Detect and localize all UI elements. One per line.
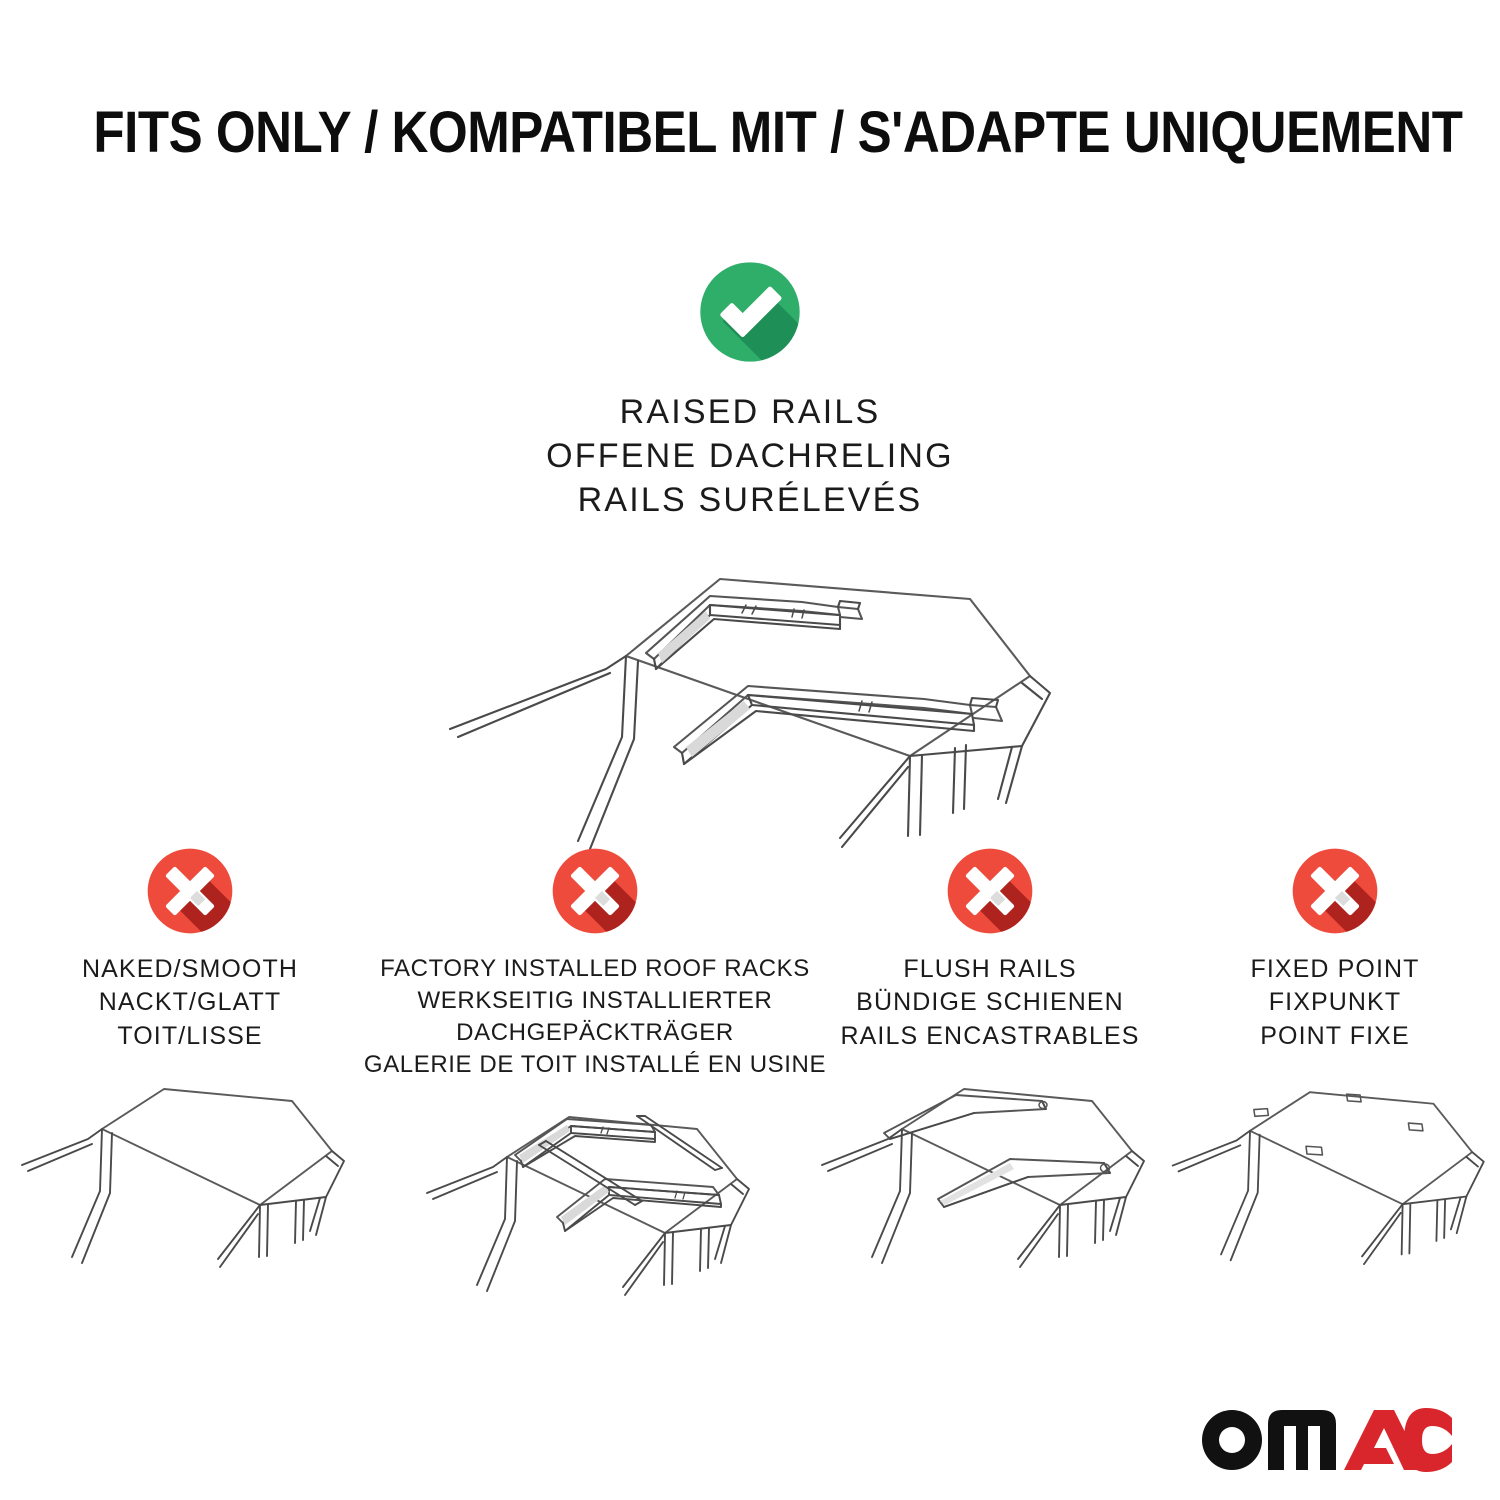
incompatible-label-en: FACTORY INSTALLED ROOF RACKS bbox=[364, 953, 826, 985]
incompatible-label-de-2: DACHGEPÄCKTRÄGER bbox=[364, 1017, 826, 1049]
cross-circle-icon bbox=[944, 845, 1036, 937]
incompatible-labels: FACTORY INSTALLED ROOF RACKS WERKSEITIG … bbox=[364, 953, 826, 1081]
incompatible-labels: NAKED/SMOOTH NACKT/GLATT TOIT/LISSE bbox=[82, 953, 298, 1053]
incompatible-item-factory-racks: FACTORY INSTALLED ROOF RACKS WERKSEITIG … bbox=[380, 845, 810, 1325]
car-roof-flush-rails-diagram bbox=[814, 1067, 1166, 1297]
incompatible-label-fr: RAILS ENCASTRABLES bbox=[840, 1020, 1139, 1053]
compatible-label-fr: RAILS SURÉLEVÉS bbox=[546, 478, 954, 522]
incompatible-item-fixed-point: FIXED POINT FIXPUNKT POINT FIXE bbox=[1170, 845, 1500, 1297]
incompatible-label-en: NAKED/SMOOTH bbox=[82, 953, 298, 986]
incompatible-item-naked-smooth: NAKED/SMOOTH NACKT/GLATT TOIT/LISSE bbox=[0, 845, 380, 1297]
incompatible-label-de-1: WERKSEITIG INSTALLIERTER bbox=[364, 985, 826, 1017]
incompatible-label-fr: POINT FIXE bbox=[1250, 1020, 1419, 1053]
incompatible-label-fr: GALERIE DE TOIT INSTALLÉ EN USINE bbox=[364, 1049, 826, 1081]
omac-logo bbox=[1198, 1396, 1452, 1472]
cross-circle-icon bbox=[144, 845, 236, 937]
incompatible-labels: FIXED POINT FIXPUNKT POINT FIXE bbox=[1250, 953, 1419, 1053]
incompatible-label-en: FLUSH RAILS bbox=[840, 953, 1139, 986]
incompatible-labels: FLUSH RAILS BÜNDIGE SCHIENEN RAILS ENCAS… bbox=[840, 953, 1139, 1053]
compatible-section: RAISED RAILS OFFENE DACHRELING RAILS SUR… bbox=[0, 258, 1500, 871]
cross-circle-icon bbox=[549, 845, 641, 937]
header: FITS ONLY / KOMPATIBEL MIT / S'ADAPTE UN… bbox=[0, 104, 1500, 162]
car-roof-raised-rails-diagram bbox=[410, 541, 1090, 871]
compatible-label-de: OFFENE DACHRELING bbox=[546, 434, 954, 478]
incompatible-label-de: NACKT/GLATT bbox=[82, 986, 298, 1019]
cross-circle-icon bbox=[1289, 845, 1381, 937]
incompatible-label-en: FIXED POINT bbox=[1250, 953, 1419, 986]
compatible-label-en: RAISED RAILS bbox=[546, 390, 954, 434]
incompatible-item-flush-rails: FLUSH RAILS BÜNDIGE SCHIENEN RAILS ENCAS… bbox=[810, 845, 1170, 1297]
check-circle-icon bbox=[696, 258, 804, 366]
incompatible-label-de: BÜNDIGE SCHIENEN bbox=[840, 986, 1139, 1019]
incompatible-label-de: FIXPUNKT bbox=[1250, 986, 1419, 1019]
page-title: FITS ONLY / KOMPATIBEL MIT / S'ADAPTE UN… bbox=[93, 104, 1462, 162]
car-roof-fixed-point-diagram bbox=[1165, 1067, 1500, 1297]
car-roof-naked-smooth-diagram bbox=[14, 1067, 366, 1297]
compatible-labels: RAISED RAILS OFFENE DACHRELING RAILS SUR… bbox=[546, 390, 954, 523]
incompatible-section: NAKED/SMOOTH NACKT/GLATT TOIT/LISSE bbox=[0, 845, 1500, 1325]
car-roof-factory-racks-diagram bbox=[419, 1095, 771, 1325]
incompatible-label-fr: TOIT/LISSE bbox=[82, 1020, 298, 1053]
